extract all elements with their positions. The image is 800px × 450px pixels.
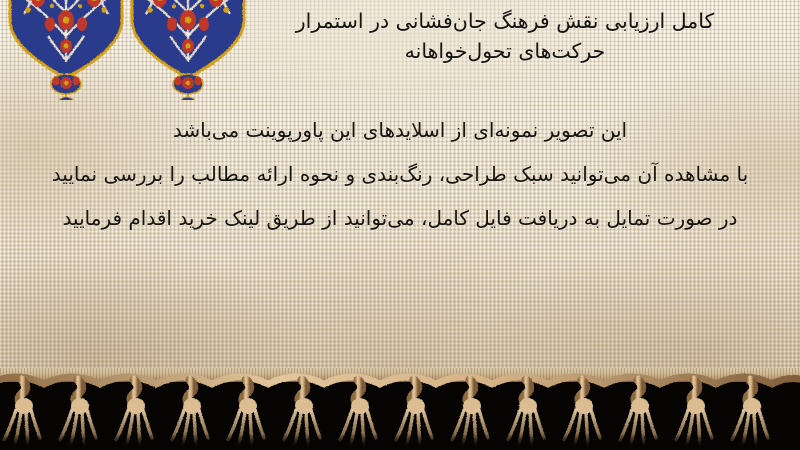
slide-body-text: این تصویر نمونه‌ای از اسلایدهای این پاور… [20,108,780,240]
slide-title-line-1: کامل ارزیابی نقش فرهنگ جان‌فشانی در استم… [225,6,785,36]
slide-body-line-3: در صورت تمایل به دریافت فایل کامل، می‌تو… [20,196,780,240]
slide-title-line-2: حرکت‌های تحول‌خواهانه [225,36,785,66]
carpet-fringe-tassels [0,372,800,450]
slide-body-line-2: با مشاهده آن می‌توانید سبک طراحی، رنگ‌بن… [20,152,780,196]
presentation-slide: کامل ارزیابی نقش فرهنگ جان‌فشانی در استم… [0,0,800,450]
carpet-fringe [0,368,800,450]
slide-title: کامل ارزیابی نقش فرهنگ جان‌فشانی در استم… [225,6,785,66]
slide-body-line-1: این تصویر نمونه‌ای از اسلایدهای این پاور… [20,108,780,152]
